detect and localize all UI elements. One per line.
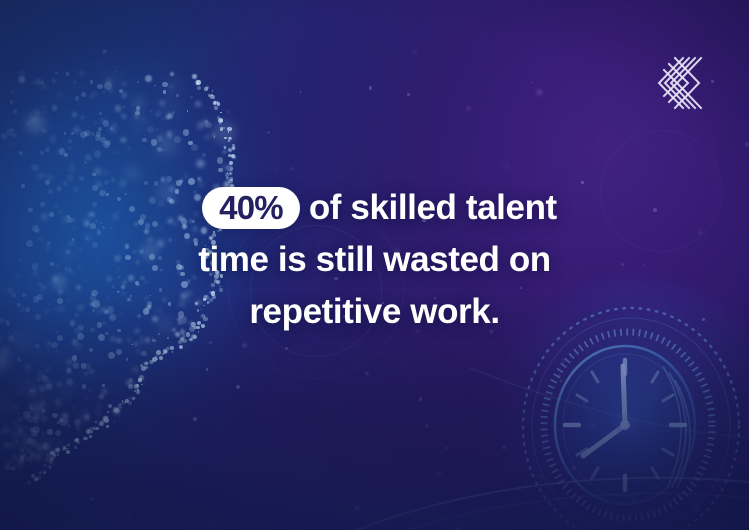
stat-badge: 40% — [202, 187, 300, 229]
headline-block: 40%of skilled talent time is still waste… — [0, 182, 749, 338]
nested-diamond-chevron-logo[interactable] — [651, 52, 707, 114]
headline-line-2: time is still wasted on — [52, 234, 697, 286]
headline-line-1-text: of skilled talent — [309, 188, 557, 227]
headline-line-1: 40%of skilled talent — [52, 182, 697, 234]
logo-icon — [651, 52, 707, 114]
headline-line-3: repetitive work. — [52, 286, 697, 338]
poster-canvas: 40%of skilled talent time is still waste… — [0, 0, 749, 530]
